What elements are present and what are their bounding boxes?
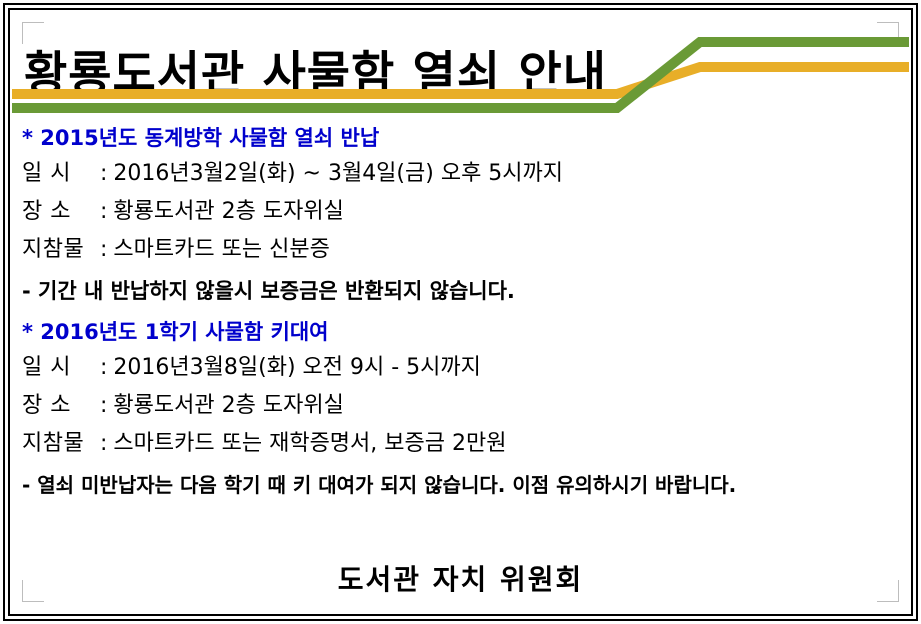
- section-note: - 기간 내 반납하지 않을시 보증금은 반환되지 않습니다.: [22, 281, 909, 302]
- section-note: - 열쇠 미반납자는 다음 학기 때 키 대여가 되지 않습니다. 이점 유의하…: [22, 475, 909, 495]
- info-label: 장 소: [22, 395, 100, 417]
- info-colon: :: [100, 199, 113, 224]
- notice-section-rental: * 2016년도 1학기 사물함 키대여 일 시:2016년3월8일(화) 오전…: [22, 322, 909, 495]
- info-colon: :: [100, 237, 113, 262]
- info-value: 2016년3월2일(화) ~ 3월4일(금) 오후 5시까지: [113, 161, 563, 186]
- info-row-items: 지참물:스마트카드 또는 재학증명서, 보증금 2만원: [22, 433, 909, 455]
- info-colon: :: [100, 393, 113, 418]
- notice-body: * 2015년도 동계방학 사물함 열쇠 반납 일 시:2016년3월2일(화)…: [22, 128, 909, 495]
- info-label: 지참물: [22, 433, 100, 455]
- info-value: 스마트카드 또는 신분증: [113, 237, 329, 262]
- info-colon: :: [100, 161, 113, 186]
- section-heading: * 2015년도 동계방학 사물함 열쇠 반납: [22, 128, 909, 149]
- info-value: 스마트카드 또는 재학증명서, 보증금 2만원: [113, 431, 506, 456]
- page-title: 황룡도서관 사물함 열쇠 안내: [24, 47, 607, 102]
- info-row-datetime: 일 시:2016년3월2일(화) ~ 3월4일(금) 오후 5시까지: [22, 163, 909, 185]
- info-row-location: 장 소:황룡도서관 2층 도자위실: [22, 395, 909, 417]
- info-row-datetime: 일 시:2016년3월8일(화) 오전 9시 - 5시까지: [22, 357, 909, 379]
- info-label: 지참물: [22, 239, 100, 261]
- notice-section-return: * 2015년도 동계방학 사물함 열쇠 반납 일 시:2016년3월2일(화)…: [22, 128, 909, 302]
- info-label: 일 시: [22, 357, 100, 379]
- section-heading: * 2016년도 1학기 사물함 키대여: [22, 322, 909, 343]
- info-colon: :: [100, 431, 113, 456]
- info-row-location: 장 소:황룡도서관 2층 도자위실: [22, 201, 909, 223]
- info-value: 2016년3월8일(화) 오전 9시 - 5시까지: [113, 355, 480, 380]
- info-label: 일 시: [22, 163, 100, 185]
- info-value: 황룡도서관 2층 도자위실: [113, 199, 343, 224]
- info-colon: :: [100, 355, 113, 380]
- issuer-signature: 도서관 자치 위원회: [12, 558, 909, 598]
- info-value: 황룡도서관 2층 도자위실: [113, 393, 343, 418]
- info-label: 장 소: [22, 201, 100, 223]
- info-row-items: 지참물:스마트카드 또는 신분증: [22, 239, 909, 261]
- notice-poster: 황룡도서관 사물함 열쇠 안내 * 2015년도 동계방학 사물함 열쇠 반납 …: [0, 0, 921, 624]
- poster-content: 황룡도서관 사물함 열쇠 안내 * 2015년도 동계방학 사물함 열쇠 반납 …: [12, 12, 909, 612]
